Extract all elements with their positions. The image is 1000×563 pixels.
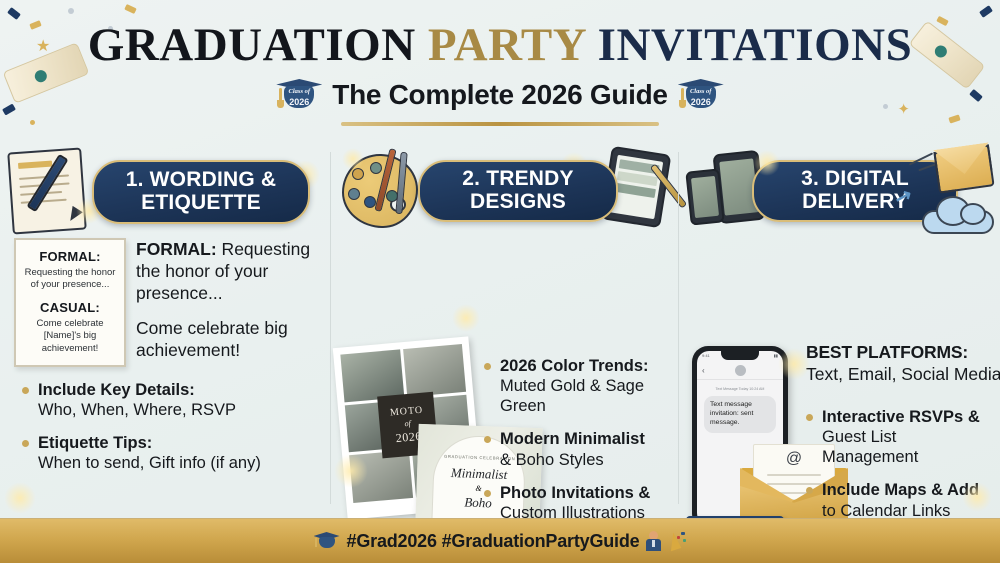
at-symbol-icon: @ [786, 451, 802, 467]
contact-avatar [735, 365, 746, 376]
bullet-sub: When to send, Gift info (if any) [38, 453, 320, 473]
wording-examples-card: FORMAL: Requesting the honor of your pre… [14, 238, 126, 367]
bullet-title: 2026 Color Trends: [500, 356, 672, 376]
bullet-title: Modern Minimalist [500, 429, 672, 449]
page-subtitle: The Complete 2026 Guide [332, 79, 667, 111]
header: ★ ✦ GRADUATION PARTY INVITATIONS Class o… [0, 0, 1000, 136]
bullet-sub: Muted Gold & Sage Green [500, 376, 672, 416]
section-wording-etiquette: 1. WORDING & ETIQUETTE FORMAL: Requestin… [0, 140, 330, 516]
cap-badge-line2: 2026 [678, 98, 724, 107]
section-1-body: FORMAL: Requesting the honor of your pre… [4, 238, 326, 538]
bullet-title: Include Key Details: [38, 380, 320, 400]
moto-line2: of [404, 418, 411, 428]
bullet-sub: Who, When, Where, RSVP [38, 400, 320, 420]
back-icon[interactable]: ‹ [702, 366, 705, 375]
cap-badge-line1: Class of [276, 89, 322, 96]
phone-notch [721, 351, 759, 360]
confetti-piece [7, 7, 21, 20]
list-item: 2026 Color Trends: Muted Gold & Sage Gre… [484, 356, 672, 416]
section-1-lead-text: FORMAL: Requesting the honor of your pre… [136, 238, 322, 361]
bullet-title: Etiquette Tips: [38, 433, 320, 453]
cap-badge-line1: Class of [678, 89, 724, 96]
bullet-title: Photo Invitations & [500, 483, 672, 503]
bullet-sub: Guest List Management [822, 427, 996, 467]
title-word-invitations: INVITATIONS [598, 19, 913, 71]
confetti-piece [124, 4, 137, 14]
graduation-cap-icon: Class of 2026 [678, 78, 724, 112]
formal-example-text: Requesting the honor of your presence... [23, 267, 117, 291]
confetti-piece [979, 5, 993, 18]
cap-badge-line2: 2026 [276, 98, 322, 107]
section-1-bullet-list: Include Key Details: Who, When, Where, R… [22, 380, 320, 487]
casual-lead: Come celebrate big achievement! [136, 317, 322, 361]
bullet-title: Interactive RSVPs & [822, 407, 996, 427]
section-2-body: MOTO of 2026 GRADUATION CELEBRATION Mini… [334, 238, 674, 538]
section-3-body: 9:41 ▮▮ ‹ Text Message Today 10:24 AM Te… [682, 238, 996, 538]
cloud-icon [922, 194, 994, 234]
list-item: Photo Invitations & Custom Illustrations [484, 483, 672, 523]
list-item: Include Key Details: Who, When, Where, R… [22, 380, 320, 420]
phone-nav-bar: ‹ [697, 362, 783, 380]
subtitle-row: Class of 2026 The Complete 2026 Guide Cl… [0, 78, 1000, 112]
section-digital-delivery: 3. DIGITAL DELIVERY ↗ 9:41 ▮▮ [678, 140, 1000, 516]
formal-lead: FORMAL: Requesting the honor of your pre… [136, 238, 322, 304]
party-popper-icon [668, 532, 686, 550]
section-trendy-designs: 2. TRENDY DESIGNS MOTO of 2026 [330, 140, 678, 516]
list-item: Etiquette Tips: When to send, Gift info … [22, 433, 320, 473]
title-word-party: PARTY [428, 19, 586, 71]
footer-bar: #Grad2026 #GraduationPartyGuide [0, 518, 1000, 563]
phone-device-icon [685, 168, 724, 225]
sparkle-decoration [452, 304, 480, 332]
section-2-title: 2. TRENDY DESIGNS [418, 160, 618, 222]
graduation-cap-icon [314, 531, 340, 551]
section-2-header-row: 2. TRENDY DESIGNS [334, 146, 674, 238]
formal-lead-bold: FORMAL: [136, 239, 217, 259]
title-underline [341, 122, 659, 126]
confetti-piece [948, 114, 960, 123]
sparkle-decoration [4, 482, 36, 514]
graduation-cap-icon: Class of 2026 [276, 78, 322, 112]
content-columns: 1. WORDING & ETIQUETTE FORMAL: Requestin… [0, 140, 1000, 516]
casual-label: CASUAL: [23, 300, 117, 315]
bullet-sub: & Boho Styles [500, 450, 672, 470]
section-3-header-row: 3. DIGITAL DELIVERY ↗ [682, 146, 996, 238]
message-timestamp: Text Message Today 10:24 AM [697, 387, 783, 392]
list-item: Interactive RSVPs & Guest List Managemen… [806, 407, 996, 467]
list-item: Include Maps & Add to Calendar Links [806, 480, 996, 520]
moto-line1: MOTO [389, 404, 423, 418]
status-time: 9:41 [702, 353, 710, 362]
casual-example-text: Come celebrate [Name]'s big achievement! [23, 318, 117, 354]
message-bubble: Text message invitation: sent message. [704, 396, 776, 433]
invite-ampersand: & [475, 484, 482, 493]
best-platforms-sub: Text, Email, Social Media [806, 364, 996, 385]
section-1-title: 1. WORDING & ETIQUETTE [92, 160, 310, 224]
confetti-dot [68, 8, 74, 14]
footer-hashtags: #Grad2026 #GraduationPartyGuide [347, 531, 640, 552]
envelope-icon [933, 144, 994, 193]
collage-photo [403, 344, 466, 397]
person-icon [646, 531, 661, 551]
section-1-header-row: 1. WORDING & ETIQUETTE [4, 146, 326, 238]
best-platforms-title: BEST PLATFORMS: [806, 342, 996, 363]
formal-label: FORMAL: [23, 249, 117, 264]
list-item: Modern Minimalist & Boho Styles [484, 429, 672, 469]
status-icons: ▮▮ [774, 353, 778, 362]
page-title: GRADUATION PARTY INVITATIONS [0, 22, 1000, 69]
collage-photo [349, 450, 412, 503]
title-word-graduation: GRADUATION [88, 19, 416, 71]
bullet-title: Include Maps & Add [822, 480, 996, 500]
confetti-dot [30, 120, 35, 125]
